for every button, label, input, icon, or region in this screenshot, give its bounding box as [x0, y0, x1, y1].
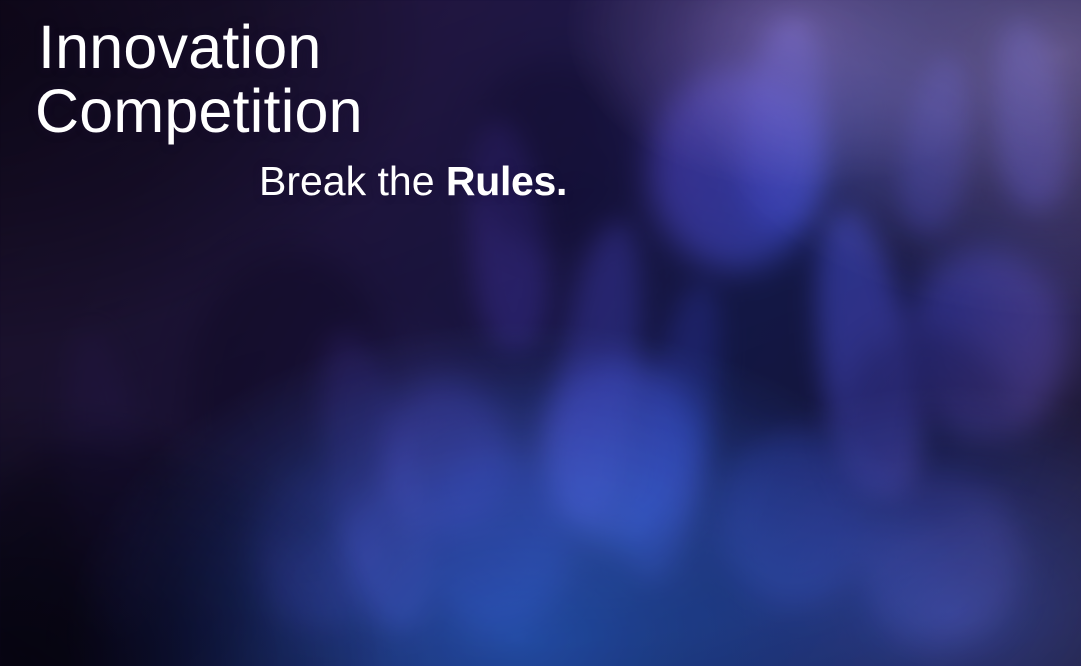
- tagline-prefix: Break the: [259, 158, 446, 204]
- tagline: Break the Rules.: [259, 160, 1081, 203]
- innovation-competition-banner: Innovation Competition Break the Rules.: [0, 0, 1081, 666]
- headline-line-2: Competition: [35, 80, 1081, 142]
- tagline-emphasis: Rules.: [446, 158, 567, 204]
- headline-line-1: Innovation: [38, 16, 1081, 78]
- banner-copy: Innovation Competition Break the Rules.: [0, 0, 1081, 203]
